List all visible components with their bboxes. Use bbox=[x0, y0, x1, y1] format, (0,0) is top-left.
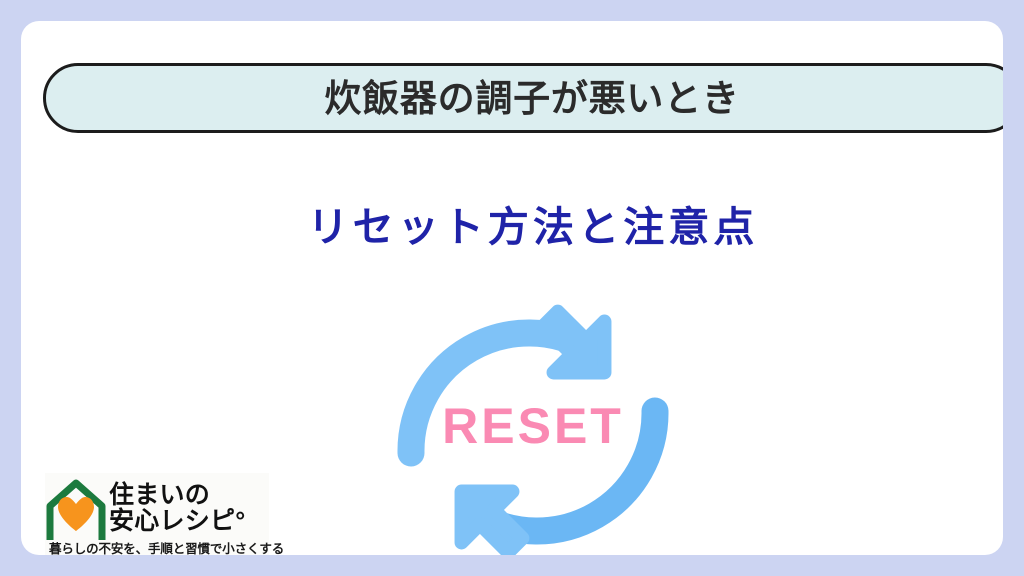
page-title: 炊飯器の調子が悪いとき bbox=[324, 80, 739, 117]
logo-wordmark: 住まいの 安心レシピ° bbox=[109, 482, 246, 535]
logo-line-1: 住まいの bbox=[109, 482, 246, 509]
house-heart-logo-icon bbox=[45, 476, 107, 540]
brand-logo: 住まいの 安心レシピ° 暮らしの不安を、手順と習慣で小さくする bbox=[45, 473, 269, 555]
logo-main-row: 住まいの 安心レシピ° bbox=[45, 473, 269, 543]
logo-line-2: 安心レシピ° bbox=[109, 508, 246, 535]
title-banner: 炊飯器の調子が悪いとき bbox=[43, 63, 1003, 133]
page-subtitle: リセット方法と注意点 bbox=[21, 207, 1003, 248]
reset-label: RESET bbox=[383, 401, 683, 451]
content-card: 炊飯器の調子が悪いとき リセット方法と注意点 RESET bbox=[21, 21, 1003, 555]
logo-tagline: 暮らしの不安を、手順と習慣で小さくする bbox=[49, 543, 269, 555]
slide-canvas: 炊飯器の調子が悪いとき リセット方法と注意点 RESET bbox=[0, 0, 1024, 576]
reset-graphic: RESET bbox=[383, 293, 683, 555]
